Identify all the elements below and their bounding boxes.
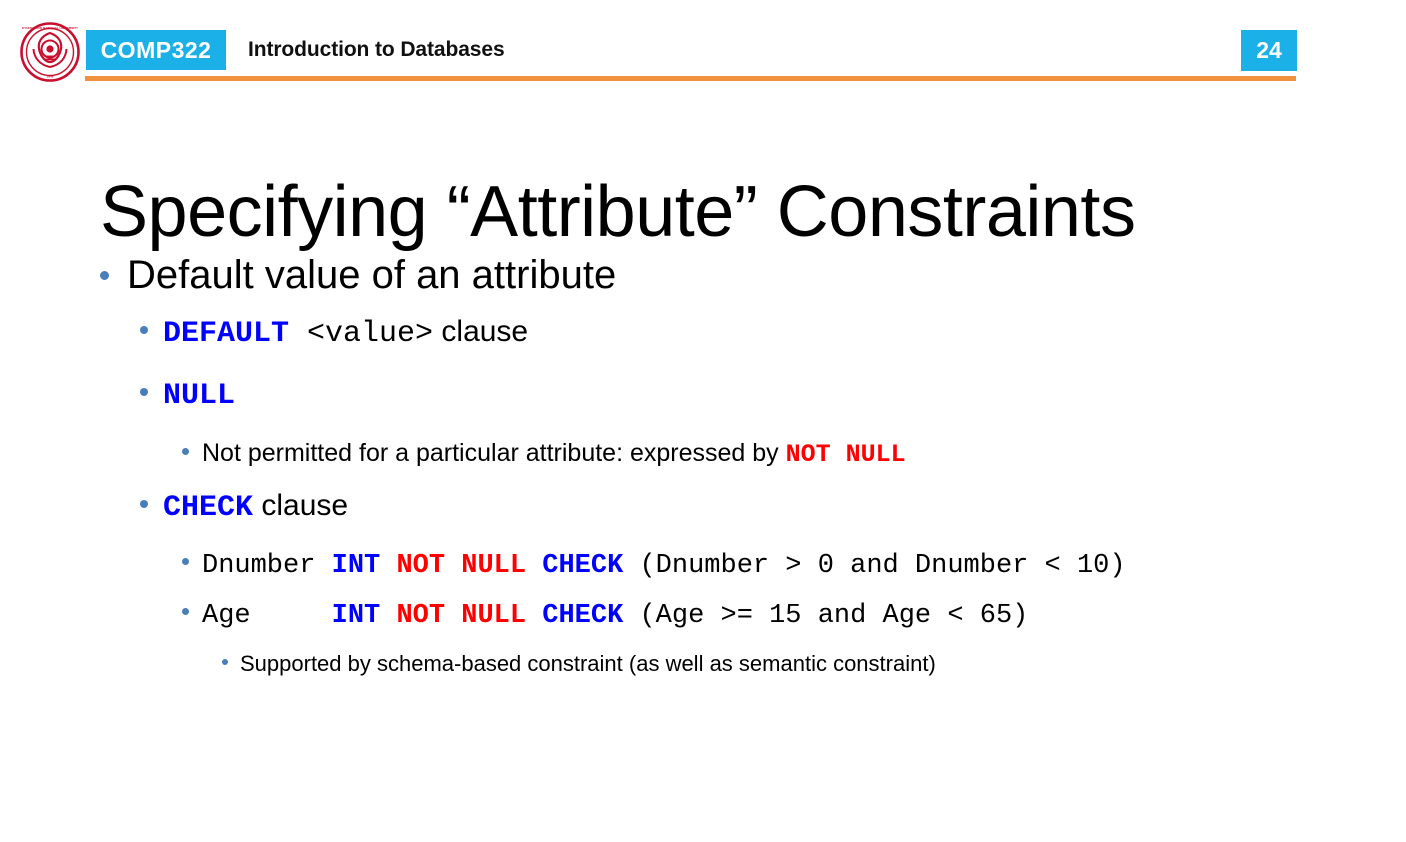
keyword-null: NULL bbox=[163, 379, 235, 413]
bullet-dot-icon bbox=[140, 388, 148, 396]
keyword-check: CHECK bbox=[542, 601, 623, 631]
code-line-dnumber: Dnumber INT NOT NULL CHECK (Dnumber > 0 … bbox=[0, 553, 1406, 603]
code-space bbox=[526, 601, 542, 631]
keyword-check: CHECK bbox=[542, 551, 623, 581]
not-permitted-label: Not permitted for a particular attribute… bbox=[202, 439, 786, 467]
code-line-age: Age INT NOT NULL CHECK (Age >= 15 and Ag… bbox=[0, 603, 1406, 653]
slide-body: Default value of an attribute DEFAULT <v… bbox=[0, 255, 1406, 697]
code-space bbox=[380, 551, 396, 581]
bullet-not-permitted-text: Not permitted for a particular attribute… bbox=[202, 441, 906, 467]
keyword-check: CHECK bbox=[163, 491, 253, 525]
bullet-default-value: Default value of an attribute bbox=[0, 255, 1406, 317]
bullet-default-clause: DEFAULT <value> clause bbox=[0, 317, 1406, 379]
bullet-dot-icon bbox=[140, 326, 148, 334]
code-space bbox=[380, 601, 396, 631]
header-divider-rule bbox=[85, 76, 1296, 81]
value-placeholder-token: <value> bbox=[289, 317, 433, 351]
column-name-age: Age bbox=[202, 601, 332, 631]
bullet-dot-icon bbox=[182, 608, 189, 615]
bullet-dot-icon bbox=[100, 271, 109, 280]
code-line-dnumber-text: Dnumber INT NOT NULL CHECK (Dnumber > 0 … bbox=[202, 553, 1126, 580]
course-title: Introduction to Databases bbox=[248, 38, 505, 62]
bullet-default-value-label: Default value of an attribute bbox=[127, 255, 616, 295]
bullet-dot-icon bbox=[140, 500, 148, 508]
svg-text:KYUNGPOOK NATIONAL UNIVERSITY: KYUNGPOOK NATIONAL UNIVERSITY bbox=[22, 26, 79, 30]
keyword-not-null: NOT NULL bbox=[786, 440, 906, 469]
bullet-supported-by: Supported by schema-based constraint (as… bbox=[0, 653, 1406, 697]
keyword-int: INT bbox=[332, 551, 381, 581]
bullet-null-text: NULL bbox=[163, 379, 235, 411]
check-expression-dnumber: (Dnumber > 0 and Dnumber < 10) bbox=[623, 551, 1125, 581]
column-name-dnumber: Dnumber bbox=[202, 551, 332, 581]
page-number-badge: 24 bbox=[1241, 30, 1297, 71]
clause-word: clause bbox=[253, 489, 348, 522]
keyword-int: INT bbox=[332, 601, 381, 631]
code-space bbox=[526, 551, 542, 581]
bullet-check-clause-text: CHECK clause bbox=[163, 491, 348, 523]
bullet-null: NULL bbox=[0, 379, 1406, 441]
bullet-default-clause-text: DEFAULT <value> clause bbox=[163, 317, 528, 349]
keyword-default: DEFAULT bbox=[163, 317, 289, 351]
slide-header: KYUNGPOOK NATIONAL UNIVERSITY 1946 COMP3… bbox=[0, 0, 1406, 90]
clause-word: clause bbox=[433, 315, 528, 348]
bullet-dot-icon bbox=[222, 659, 228, 665]
kyungpook-national-university-seal-icon: KYUNGPOOK NATIONAL UNIVERSITY 1946 bbox=[20, 22, 80, 82]
course-code-badge: COMP322 bbox=[86, 30, 226, 70]
slide-title: Specifying “Attribute” Constraints bbox=[100, 176, 1135, 248]
check-expression-age: (Age >= 15 and Age < 65) bbox=[623, 601, 1028, 631]
bullet-supported-by-label: Supported by schema-based constraint (as… bbox=[240, 653, 936, 675]
keyword-not-null: NOT NULL bbox=[396, 601, 526, 631]
bullet-dot-icon bbox=[182, 558, 189, 565]
keyword-not-null: NOT NULL bbox=[396, 551, 526, 581]
bullet-not-permitted: Not permitted for a particular attribute… bbox=[0, 441, 1406, 491]
bullet-check-clause: CHECK clause bbox=[0, 491, 1406, 553]
svg-text:1946: 1946 bbox=[47, 75, 54, 79]
code-line-age-text: Age INT NOT NULL CHECK (Age >= 15 and Ag… bbox=[202, 603, 1028, 630]
bullet-dot-icon bbox=[182, 448, 189, 455]
